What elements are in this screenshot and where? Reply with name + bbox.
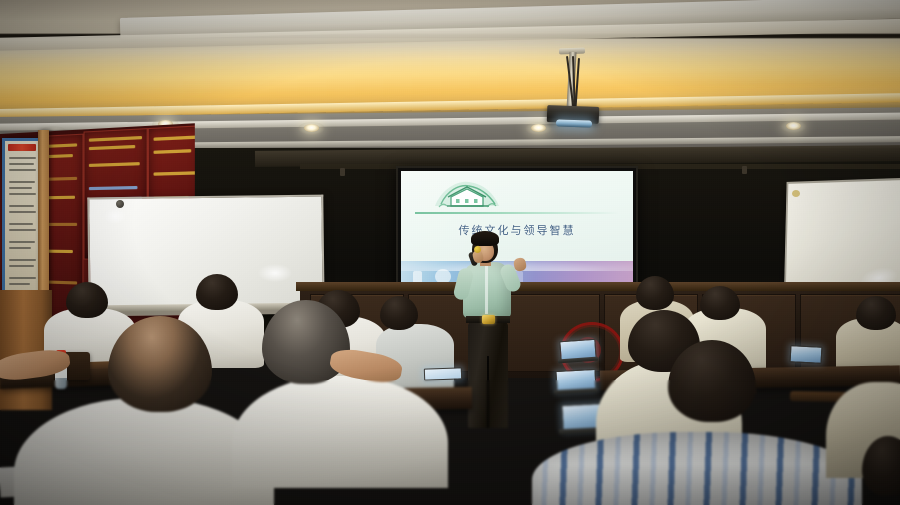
attendee-head-l1 [66,282,108,318]
conference-hall-photograph: 传统文化与领导智慧 [0,0,900,505]
whiteboard-left-mount [116,200,124,208]
attendee-striped-shading [532,432,862,505]
attendee-head-r2 [700,286,740,320]
laptop-4-screen [424,367,462,380]
stage-top-rail [296,282,900,291]
screen-glare [401,171,633,289]
speaker-trouser-seam [487,356,489,428]
track-hook-1 [340,168,345,176]
whiteboard-right-mount [792,190,800,197]
whiteboard-left-highlight-2 [258,264,292,282]
microphone-head [474,246,481,253]
attendee-head-r1 [636,276,674,310]
laptop-5-screen [790,345,823,364]
laptop-2-base [554,388,598,394]
poster-heading [8,144,36,151]
downlight-icon-3 [531,124,546,132]
poster-wood-frame [38,130,49,315]
attendee-head-r3 [856,296,896,330]
projector-lens [556,119,592,127]
projection-screen-surface: 传统文化与领导智慧 [401,171,633,289]
track-hook-4 [742,166,747,174]
attendee-striped-shirt [532,432,862,505]
attendee-head-l4 [380,296,418,330]
speaker-hair [471,231,499,246]
whiteboard-left-highlight-1 [104,208,126,224]
attendee-head-l2 [196,274,238,310]
downlight-icon-4 [786,122,801,130]
speaker-shirt-placket [485,264,488,314]
speaker-belt-buckle [482,315,495,324]
downlight-icon-2 [304,124,319,132]
